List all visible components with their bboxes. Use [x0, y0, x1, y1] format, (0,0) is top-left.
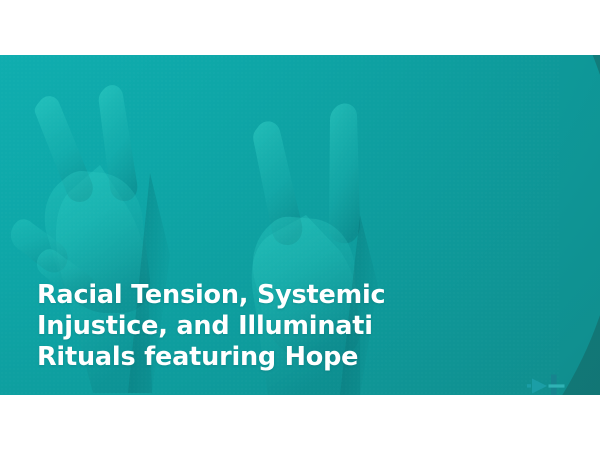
page-title: Racial Tension, Systemic Injustice, and …: [37, 280, 417, 373]
artboard: Racial Tension, Systemic Injustice, and …: [0, 55, 600, 395]
episode-cover-canvas: Racial Tension, Systemic Injustice, and …: [0, 0, 600, 450]
brand-logo: B R I D E DISCOVERING TRUTH with Jess Du…: [505, 373, 597, 395]
bride-monogram-icon: [505, 373, 597, 395]
